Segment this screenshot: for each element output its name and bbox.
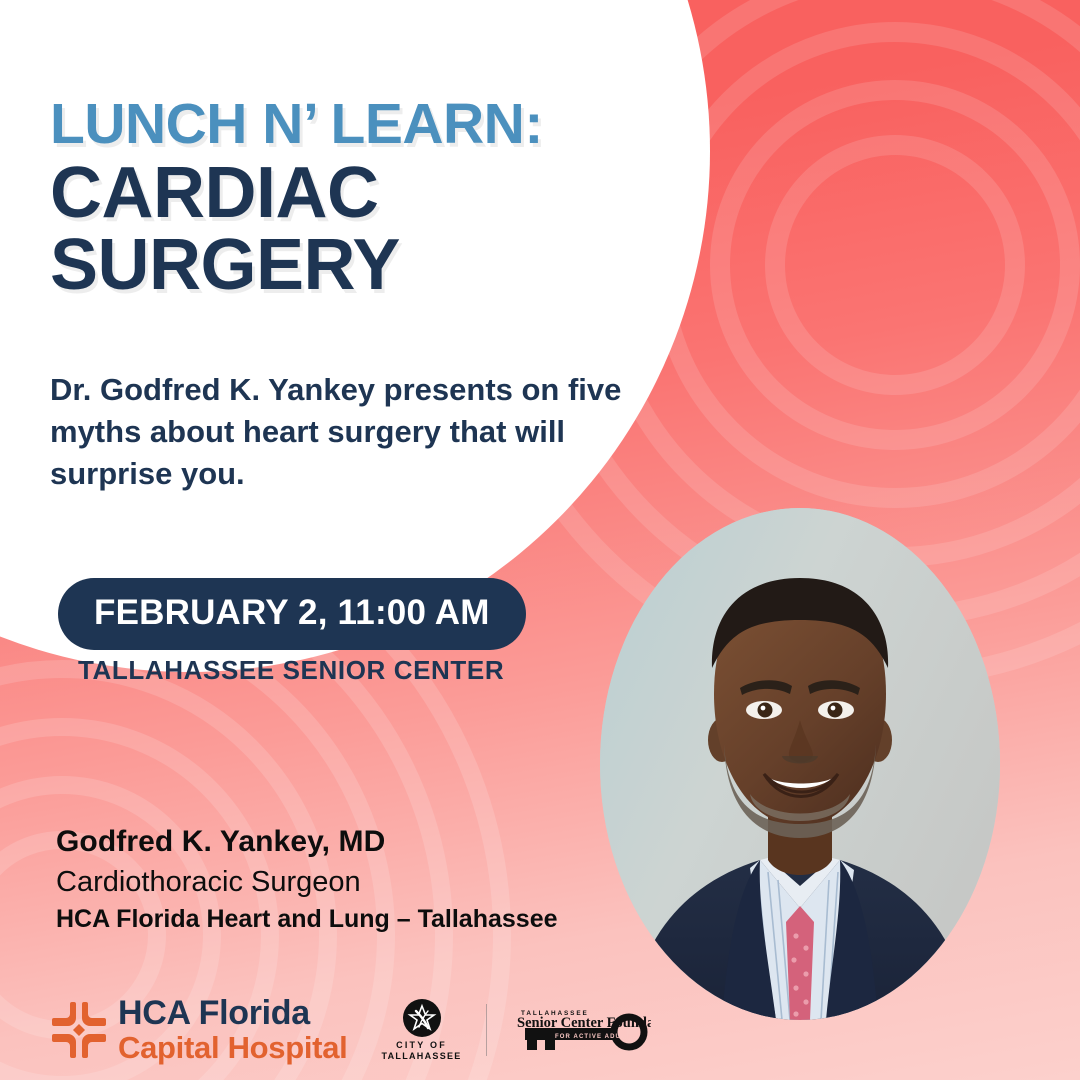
headline-kicker: LUNCH N’ LEARN: [50,96,690,152]
city-logo-line-2: TALLAHASSEE [381,1051,461,1061]
hca-florida-logo: HCA Florida Capital Hospital [52,996,347,1063]
speaker-name: Godfred K. Yankey, MD [56,822,676,863]
senior-center-foundation-logo: TALLAHASSEE Senior Center Foundation FOR… [511,1004,651,1056]
speaker-portrait [600,508,1000,1020]
hca-logo-line-2: Capital Hospital [118,1032,347,1063]
city-logo-line-1: CITY OF [396,1040,447,1050]
city-of-tallahassee-star-icon [403,999,441,1037]
hca-logo-line-1: HCA Florida [118,996,347,1030]
flyer-canvas: LUNCH N’ LEARN: CARDIAC SURGERY Dr. Godf… [0,0,1080,1080]
scf-line-3-text: FOR ACTIVE ADULTS [555,1034,635,1040]
logo-divider [486,1004,487,1056]
event-description: Dr. Godfred K. Yankey presents on five m… [50,369,650,495]
logo-row: HCA Florida Capital Hospital CITY OF TAL… [52,996,651,1063]
hca-wordmark: HCA Florida Capital Hospital [118,996,347,1063]
speaker-credentials: Godfred K. Yankey, MD Cardiothoracic Sur… [56,822,676,937]
hca-four-petal-cross-icon [52,1002,106,1058]
headline-line-2: SURGERY [50,230,690,301]
city-of-tallahassee-logo: CITY OF TALLAHASSEE [371,999,461,1061]
speaker-organization: HCA Florida Heart and Lung – Tallahassee [56,902,676,937]
speaker-role: Cardiothoracic Surgeon [56,863,676,902]
event-date-badge: FEBRUARY 2, 11:00 AM [58,578,526,650]
event-venue: TALLAHASSEE SENIOR CENTER [78,655,504,686]
headline-line-1: CARDIAC [50,158,690,229]
scf-line-2-text: Senior Center Foundation [517,1015,651,1031]
headline-block: LUNCH N’ LEARN: CARDIAC SURGERY [50,96,690,301]
